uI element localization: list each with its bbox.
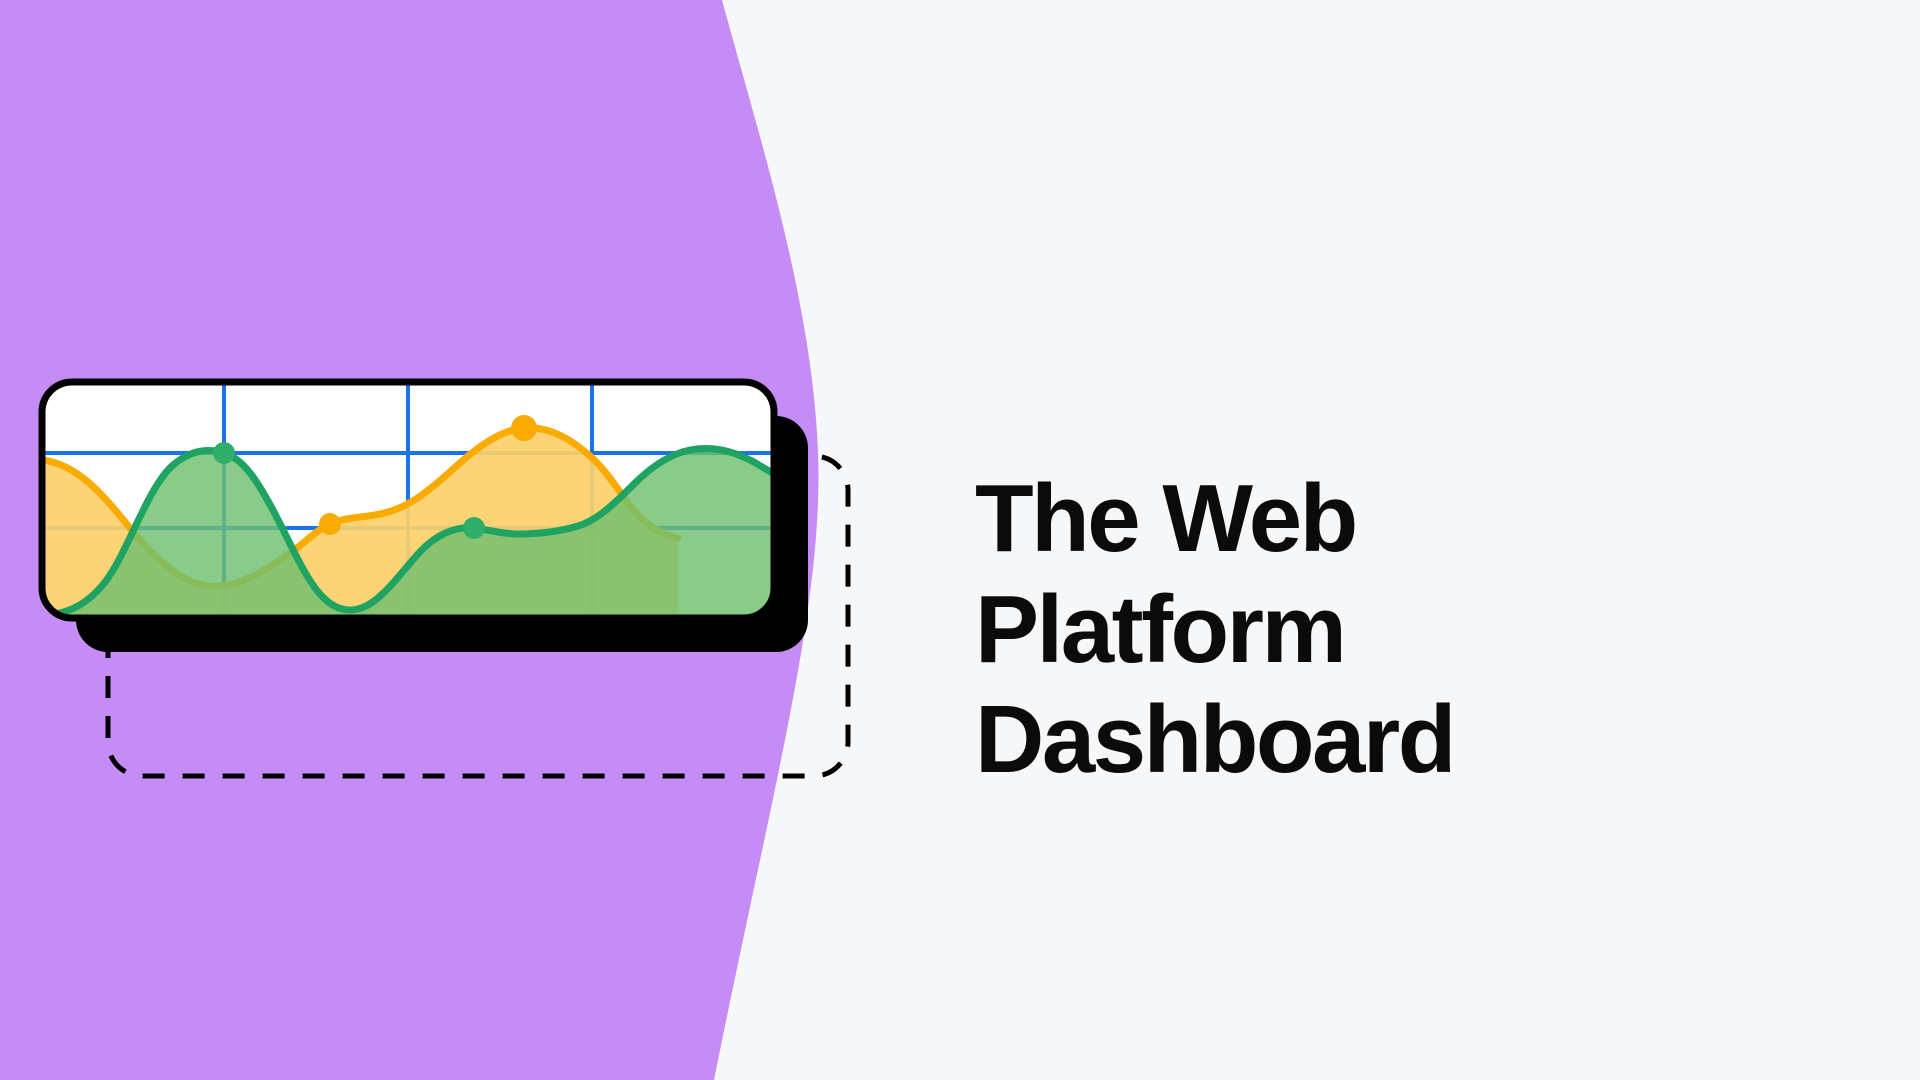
chart-card-illustration[interactable] — [38, 378, 878, 798]
marker-yellow-2 — [511, 415, 537, 441]
page-title: The Web Platform Dashboard — [975, 464, 1735, 795]
marker-yellow-1 — [319, 513, 341, 535]
page-title-line-1: The Web — [975, 464, 1735, 574]
chart-card-group[interactable] — [38, 378, 878, 798]
marker-green-2 — [463, 517, 485, 539]
page-title-line-3: Dashboard — [975, 685, 1735, 795]
page-title-line-2: Platform — [975, 575, 1735, 685]
marker-green-1 — [213, 442, 235, 464]
page-root: The Web Platform Dashboard — [0, 0, 1920, 1080]
